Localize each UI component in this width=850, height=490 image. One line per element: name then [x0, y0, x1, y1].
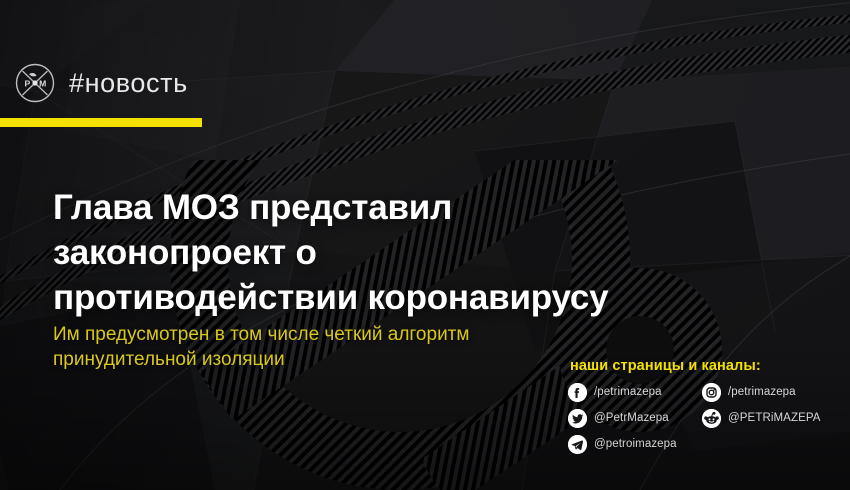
social-link-facebook[interactable]: /petrimazepa: [568, 383, 688, 402]
social-link-instagram[interactable]: /petrimazepa: [702, 383, 820, 402]
accent-rule: [0, 118, 202, 127]
social-column-left: /petrimazepa @PetrMazepa: [568, 383, 688, 454]
subheadline: Им предусмотрен в том числе четкий алгор…: [53, 322, 653, 373]
subheadline-line-1: Им предусмотрен в том числе четкий алгор…: [53, 322, 653, 347]
social-link-telegram[interactable]: @petroimazepa: [568, 435, 688, 454]
brand-header: P M #новость: [14, 62, 188, 104]
social-links-block: наши страницы и каналы: /petrimazepa: [568, 358, 820, 454]
social-link-twitter[interactable]: @PetrMazepa: [568, 409, 688, 428]
svg-text:P: P: [25, 79, 31, 89]
petr-mazepa-circle-logo-icon: P M: [14, 62, 56, 104]
social-handle-twitter: @PetrMazepa: [594, 413, 669, 425]
social-link-reddit[interactable]: @PETRiMAZEPA: [702, 409, 820, 428]
svg-text:M: M: [39, 79, 46, 89]
social-handle-telegram: @petroimazepa: [594, 439, 677, 451]
social-column-right: /petrimazepa: [702, 383, 820, 454]
headline: Глава МОЗ представил законопроект о прот…: [53, 186, 813, 320]
telegram-icon: [568, 435, 587, 454]
social-links-title: наши страницы и каналы:: [570, 358, 820, 374]
headline-line-3: противодействии коронавирусу: [53, 276, 813, 321]
headline-line-2: законопроект о: [53, 231, 813, 276]
headline-line-1: Глава МОЗ представил: [53, 186, 813, 231]
social-handle-instagram: /petrimazepa: [728, 387, 796, 399]
instagram-icon: [702, 383, 721, 402]
social-handle-reddit: @PETRiMAZEPA: [728, 413, 821, 425]
facebook-icon: [568, 383, 587, 402]
news-card: P M #новость Глава МОЗ представил законо…: [0, 0, 850, 490]
hashtag-label: #новость: [69, 70, 188, 97]
subheadline-line-2: принудительной изоляции: [53, 347, 653, 372]
twitter-icon: [568, 409, 587, 428]
social-handle-facebook: /petrimazepa: [594, 387, 662, 399]
reddit-icon: [702, 409, 721, 428]
